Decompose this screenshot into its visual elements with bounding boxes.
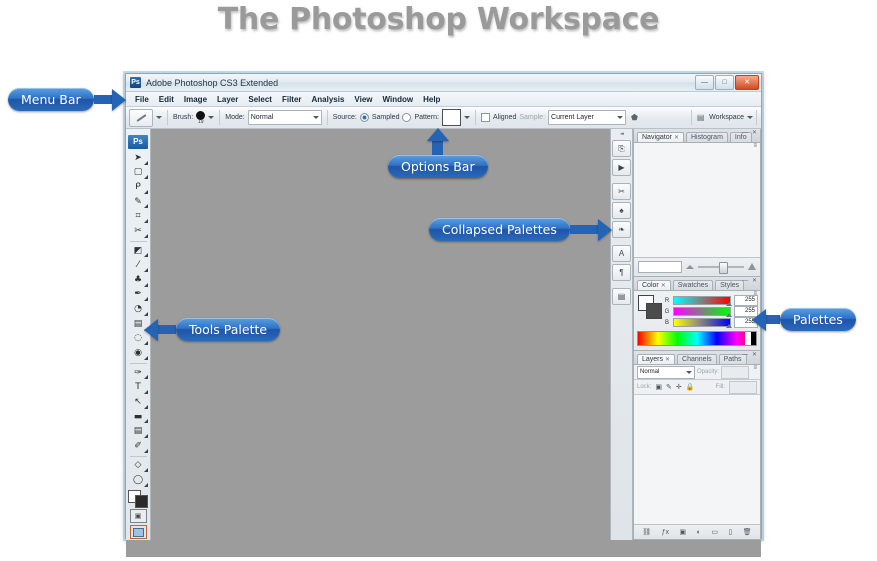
menu-bar: FileEditImageLayerSelectFilterAnalysisVi… [126, 92, 761, 107]
tool-glyph: ✎ [134, 198, 142, 207]
callout-stem [766, 315, 780, 324]
channel-label: R [664, 298, 670, 304]
tool-glyph: ✂ [134, 227, 142, 236]
layers-options-row: Normal Opacity: [634, 365, 760, 380]
opacity-label: Opacity: [697, 369, 719, 375]
red-slider[interactable] [673, 296, 731, 305]
lasso-tool[interactable]: ᑭ [128, 180, 149, 195]
palette-menu-icon[interactable]: ≡ [753, 143, 757, 149]
photoshop-logo-icon: Ps [130, 77, 141, 88]
close-icon[interactable]: ✕ [665, 356, 670, 363]
layer-mask-icon[interactable]: ▣ [680, 528, 687, 536]
tab-label: Channels [682, 356, 712, 363]
magic-wand-tool[interactable]: ✎ [128, 195, 149, 210]
source-sampled-label: Sampled [372, 114, 400, 121]
lock-all-icon[interactable]: 🔒 [686, 383, 695, 391]
zoom-out-icon[interactable] [686, 265, 694, 269]
eraser-tool[interactable]: ◔ [128, 302, 149, 317]
tab-styles[interactable]: Styles [715, 280, 744, 290]
dodge-tool[interactable]: ◉ [128, 346, 149, 361]
navigator-tab-strip: Navigator ✕ Histogram Info — ✕ ≡ [634, 129, 760, 143]
measurement-log-icon[interactable]: ▤ [612, 288, 631, 305]
callout-stem [432, 141, 443, 155]
path-selection-tool[interactable]: ↖ [128, 395, 149, 410]
color-body: R 255 G 255 B 255 [634, 291, 760, 328]
status-bar [126, 540, 761, 557]
source-pattern-label: Pattern: [414, 114, 439, 121]
menu-item-select[interactable]: Select [243, 95, 277, 104]
color-foreground-background-swatches[interactable] [638, 295, 660, 317]
channel-row-b: B 255 [664, 317, 758, 328]
chevron-down-icon [686, 371, 692, 374]
crop-tool[interactable]: ⌗ [128, 209, 149, 224]
palette-collapse-controls[interactable]: — ✕ [742, 277, 758, 284]
notes-tool[interactable]: ▤ [128, 424, 149, 439]
tab-layers[interactable]: Layers ✕ [637, 354, 675, 364]
brushes-palette-icon[interactable]: ♠ [612, 202, 631, 219]
menu-item-window[interactable]: Window [378, 95, 419, 104]
zoom-in-icon[interactable] [748, 263, 756, 270]
palette-menu-icon[interactable]: ≡ [753, 291, 757, 297]
slider-thumb[interactable] [726, 302, 732, 306]
layers-palette: Layers ✕ Channels Paths — ✕ ≡ Normal [633, 351, 761, 540]
callout-stem [158, 325, 176, 334]
fill-field[interactable] [729, 381, 757, 394]
pencil-icon [136, 114, 146, 122]
quick-mask-icon[interactable]: ▣ [130, 509, 147, 523]
workspace-label: Workspace [709, 114, 744, 121]
move-tool[interactable]: ➤ [128, 151, 149, 166]
tab-label: Histogram [691, 134, 723, 141]
tools-foreground-background-swatches[interactable] [128, 490, 148, 507]
zoom-slider[interactable] [698, 266, 744, 268]
collapsed-palettes-dock: ◂◂ ⎘▶✂♠❧A¶▤ [610, 129, 633, 540]
tool-preset-chevron-down-icon[interactable] [156, 116, 162, 119]
screen-mode-icon[interactable] [130, 525, 147, 539]
type-tool[interactable]: T [128, 380, 149, 395]
tool-glyph: ᑭ [135, 183, 141, 192]
tool-glyph: ▤ [134, 427, 143, 436]
window-title-bar: Ps Adobe Photoshop CS3 Extended — □ ✕ [126, 74, 761, 92]
tab-label: Paths [724, 356, 742, 363]
tools-divider [130, 456, 147, 457]
tools-photoshop-logo-icon: Ps [128, 135, 148, 149]
tool-glyph: ➤ [134, 154, 142, 163]
background-color-swatch[interactable] [135, 495, 148, 508]
new-layer-icon[interactable]: ▯ [728, 528, 732, 536]
brush-chevron-down-icon[interactable] [208, 116, 214, 119]
tab-swatches[interactable]: Swatches [673, 280, 713, 290]
divider [327, 110, 328, 125]
channel-row-r: R 255 [664, 295, 758, 306]
callout-tools-palette: Tools Palette [144, 318, 280, 341]
tab-label: Color [642, 282, 659, 289]
close-button[interactable]: ✕ [735, 75, 759, 90]
close-icon[interactable]: ✕ [661, 282, 666, 289]
layer-style-icon[interactable]: ƒx [662, 529, 669, 536]
source-sampled-radio[interactable] [360, 113, 369, 122]
divider [167, 110, 168, 125]
layers-footer: ⛓ ƒx ▣ ◐ ▭ ▯ 🗑 [634, 524, 760, 539]
tool-glyph: ▬ [134, 413, 143, 422]
lock-image-pixels-icon[interactable]: ✎ [666, 383, 672, 391]
brush-size-value: 19 [198, 120, 204, 125]
tool-glyph: T [135, 383, 141, 392]
callout-options-bar: Options Bar [388, 128, 488, 178]
sample-label: Sample: [519, 114, 545, 121]
tab-channels[interactable]: Channels [677, 354, 717, 364]
clone-source-palette-icon[interactable]: ❧ [612, 221, 631, 238]
tab-color[interactable]: Color ✕ [637, 280, 671, 290]
fill-label: Fill: [716, 384, 725, 390]
dock-grip[interactable]: ◂◂ [620, 131, 623, 138]
menu-item-edit[interactable]: Edit [154, 95, 179, 104]
palette-collapse-controls[interactable]: — ✕ [742, 129, 758, 136]
close-icon[interactable]: ✕ [674, 134, 679, 141]
tab-label: Layers [642, 356, 663, 363]
layers-list[interactable] [634, 395, 760, 524]
lock-transparent-pixels-icon[interactable]: ▣ [655, 383, 662, 391]
options-bar: Brush: 19 Mode: Normal Source: Sampled P… [126, 107, 761, 129]
channel-row-g: G 255 [664, 306, 758, 317]
menu-item-view[interactable]: View [349, 95, 377, 104]
tab-label: Swatches [678, 282, 708, 289]
arrow-left-icon [752, 309, 766, 331]
blue-slider[interactable] [673, 318, 731, 327]
tool-presets-palette-icon[interactable]: ✂ [612, 183, 631, 200]
tool-glyph: ⌗ [135, 212, 140, 221]
mode-select[interactable]: Normal [248, 110, 322, 125]
zoom-percent-field[interactable] [638, 261, 682, 273]
color-channels: R 255 G 255 B 255 [664, 295, 758, 328]
tool-glyph: ◯ [133, 476, 143, 485]
callout-collapsed-palettes: Collapsed Palettes [429, 218, 612, 241]
divider [691, 110, 692, 125]
eyedropper-tool[interactable]: ✐ [128, 439, 149, 454]
callout-menu-bar-label: Menu Bar [8, 88, 94, 111]
tool-glyph: ◉ [134, 349, 142, 358]
aligned-label: Aligned [493, 114, 516, 121]
callout-palettes: Palettes [752, 308, 856, 331]
new-group-icon[interactable]: ▭ [711, 528, 718, 536]
callout-options-bar-label: Options Bar [388, 155, 488, 178]
tab-navigator[interactable]: Navigator ✕ [637, 132, 684, 142]
divider [219, 110, 220, 125]
source-label: Source: [333, 114, 357, 121]
tool-glyph: ▤ [134, 320, 143, 329]
opacity-field[interactable] [721, 366, 749, 379]
divider [475, 110, 476, 125]
arrow-up-icon [427, 128, 449, 141]
delete-layer-icon[interactable]: 🗑 [743, 528, 752, 536]
sample-value: Current Layer [551, 114, 594, 121]
tab-histogram[interactable]: Histogram [686, 132, 728, 142]
pattern-chevron-down-icon[interactable] [464, 116, 470, 119]
tool-glyph: ↖ [134, 398, 142, 407]
tool-glyph: ♣ [134, 276, 142, 285]
actions-palette-icon[interactable]: ▶ [612, 159, 631, 176]
channel-label: G [664, 309, 670, 315]
lock-label: Lock: [637, 384, 651, 390]
callout-palettes-label: Palettes [780, 308, 856, 331]
callout-stem [94, 95, 112, 104]
menu-item-layer[interactable]: Layer [212, 95, 243, 104]
tool-glyph: ✑ [134, 369, 142, 378]
page-title: The Photoshop Workspace [0, 2, 877, 37]
tools-divider [130, 363, 147, 364]
tool-glyph: ◩ [134, 247, 143, 256]
link-layers-icon[interactable]: ⛓ [642, 528, 651, 536]
color-spectrum-ramp[interactable] [637, 331, 757, 346]
brush-label: Brush: [173, 114, 193, 121]
green-slider[interactable] [673, 307, 731, 316]
color-palette: Color ✕ Swatches Styles — ✕ ≡ [633, 277, 761, 351]
healing-brush-tool[interactable]: ◩ [128, 244, 149, 259]
sample-select[interactable]: Current Layer [548, 110, 626, 125]
color-tab-strip: Color ✕ Swatches Styles — ✕ ≡ [634, 277, 760, 291]
pattern-swatch[interactable] [442, 109, 461, 126]
hand-tool[interactable]: ◇ [128, 459, 149, 474]
slider-thumb[interactable] [726, 324, 732, 328]
tool-glyph: ◇ [135, 461, 142, 470]
clone-stamp-tool[interactable]: ♣ [128, 273, 149, 288]
arrow-right-icon [112, 89, 126, 111]
minimize-button[interactable]: — [695, 75, 714, 90]
window-controls: — □ ✕ [695, 75, 759, 90]
blend-mode-value: Normal [640, 369, 659, 375]
arrow-left-icon [144, 319, 158, 341]
screen-mode-inner [133, 528, 144, 537]
navigator-footer [634, 257, 760, 275]
tool-glyph: ▢ [134, 168, 143, 177]
ignore-adjustment-layers-icon[interactable]: ⬟ [629, 111, 640, 124]
source-pattern-radio[interactable] [402, 113, 411, 122]
history-palette-icon[interactable]: ⎘ [612, 140, 631, 157]
navigator-palette: Navigator ✕ Histogram Info — ✕ ≡ [633, 129, 761, 277]
tab-label: Styles [720, 282, 739, 289]
tool-glyph: ◌ [134, 334, 142, 343]
layers-tab-strip: Layers ✕ Channels Paths — ✕ ≡ [634, 351, 760, 365]
palette-collapse-controls[interactable]: — ✕ [742, 351, 758, 358]
workspace-icon: ▤ [695, 111, 706, 124]
palettes-dock: Navigator ✕ Histogram Info — ✕ ≡ [633, 129, 761, 540]
paragraph-palette-icon[interactable]: ¶ [612, 264, 631, 281]
menu-item-file[interactable]: File [130, 95, 154, 104]
window-title-text: Adobe Photoshop CS3 Extended [146, 78, 278, 88]
marquee-tool[interactable]: ▢ [128, 166, 149, 181]
channel-label: B [664, 320, 670, 326]
brush-tool[interactable]: ⁄ [128, 258, 149, 273]
zoom-slider-knob[interactable] [719, 262, 728, 274]
callout-tools-palette-label: Tools Palette [176, 318, 280, 341]
palette-menu-icon[interactable]: ≡ [753, 365, 757, 371]
menu-item-help[interactable]: Help [418, 95, 445, 104]
tools-divider [130, 241, 147, 242]
lock-position-icon[interactable]: ✛ [676, 383, 682, 391]
menu-item-analysis[interactable]: Analysis [307, 95, 350, 104]
blend-mode-select[interactable]: Normal [637, 366, 695, 379]
menu-item-image[interactable]: Image [179, 95, 212, 104]
mode-label: Mode: [225, 114, 244, 121]
zoom-tool[interactable]: ◯ [128, 473, 149, 488]
aligned-checkbox[interactable] [481, 113, 490, 122]
navigator-thumbnail-area[interactable] [634, 143, 760, 257]
callout-menu-bar: Menu Bar [8, 88, 126, 111]
mode-value: Normal [251, 114, 274, 121]
tool-glyph: ✒ [134, 290, 142, 299]
divider [756, 110, 757, 125]
layers-lock-row: Lock: ▣ ✎ ✛ 🔒 Fill: [634, 380, 760, 395]
slice-tool[interactable]: ✂ [128, 224, 149, 239]
chevron-down-icon [313, 116, 319, 119]
arrow-right-icon [598, 219, 612, 241]
background-color-swatch[interactable] [646, 303, 662, 319]
tool-glyph: ⁄ [137, 261, 139, 270]
tool-glyph: ◔ [134, 305, 142, 314]
callout-collapsed-palettes-label: Collapsed Palettes [429, 218, 570, 241]
chevron-down-icon [747, 116, 753, 119]
rectangle-tool[interactable]: ▬ [128, 410, 149, 425]
callout-stem [570, 225, 598, 234]
workspace-switcher[interactable]: ▤ Workspace [691, 110, 757, 125]
brush-preview[interactable]: 19 [196, 111, 205, 125]
adjustment-layer-icon[interactable]: ◐ [697, 529, 701, 536]
tab-label: Navigator [642, 134, 672, 141]
pen-tool[interactable]: ✑ [128, 366, 149, 381]
character-palette-icon[interactable]: A [612, 245, 631, 262]
chevron-down-icon [617, 116, 623, 119]
history-brush-tool[interactable]: ✒ [128, 288, 149, 303]
menu-item-filter[interactable]: Filter [277, 95, 307, 104]
current-tool-well[interactable] [129, 109, 153, 127]
slider-thumb[interactable] [726, 313, 732, 317]
maximize-button[interactable]: □ [715, 75, 734, 90]
tool-glyph: ✐ [134, 442, 142, 451]
